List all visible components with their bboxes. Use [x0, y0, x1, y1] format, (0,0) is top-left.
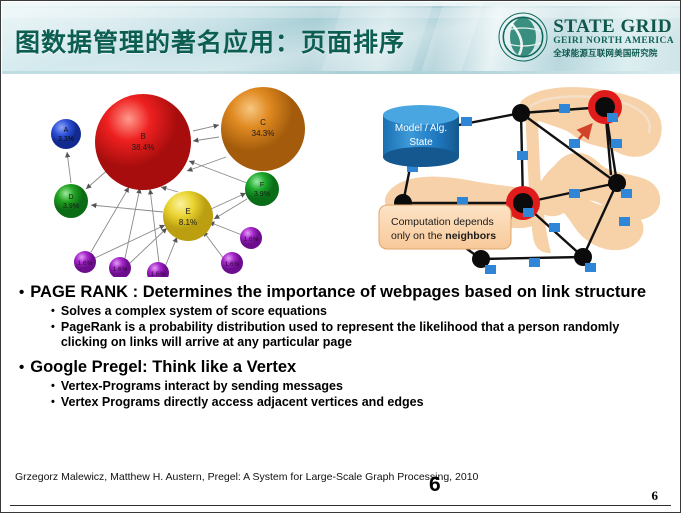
header-bottom-rule: [2, 71, 681, 74]
bullet-level2-adjacent-vertices: • Vertex Programs directly access adjace…: [15, 395, 665, 410]
footer-divider: [10, 505, 671, 506]
slide: 图数据管理的著名应用：页面排序 STATE GRID GEIRI NORTH A…: [0, 0, 681, 513]
bullet-text: PAGE RANK : Determines the importance of…: [30, 283, 665, 302]
svg-text:C: C: [260, 118, 266, 127]
page-number: 6: [652, 488, 659, 504]
bullet-list: • PAGE RANK : Determines the importance …: [15, 283, 665, 411]
svg-text:34.3%: 34.3%: [252, 129, 275, 138]
svg-text:8.1%: 8.1%: [179, 218, 197, 227]
bullet-dot-icon: •: [19, 283, 24, 302]
model-state-cylinder: Model / Alg. State: [383, 105, 459, 167]
cylinder-label-line2: State: [409, 137, 433, 148]
svg-text:D: D: [68, 194, 73, 201]
state-grid-logo: STATE GRID GEIRI NORTH AMERICA 全球能源互联网美国…: [497, 7, 674, 67]
svg-text:1.6%: 1.6%: [244, 236, 259, 243]
bullet-level2-score-equations: • Solves a complex system of score equat…: [15, 304, 665, 319]
svg-text:1.6%: 1.6%: [113, 266, 128, 273]
bullet-text: Google Pregel: Think like a Vertex: [30, 358, 665, 377]
bullet-dot-icon: •: [51, 304, 55, 319]
header-top-highlight: [2, 2, 681, 6]
bullet-text: Solves a complex system of score equatio…: [61, 304, 665, 319]
pagerank-diagram: C 34.3% B 38.4% A 3.3% D 3.9% E 8.1%: [23, 79, 341, 277]
bullet-level1-pregel: • Google Pregel: Think like a Vertex: [15, 358, 665, 377]
citation-text: Grzegorz Malewicz, Matthew H. Austern, P…: [15, 471, 478, 483]
bullet-text: Vertex Programs directly access adjacent…: [61, 395, 665, 410]
logo-line-chinese: 全球能源互联网美国研究院: [553, 49, 674, 58]
svg-text:1.6%: 1.6%: [78, 260, 93, 267]
logo-line-geiri: GEIRI NORTH AMERICA: [553, 37, 674, 47]
bullet-level2-probability-distribution: • PageRank is a probability distribution…: [15, 320, 665, 350]
logo-line-state-grid: STATE GRID: [553, 17, 674, 36]
bullet-level1-pagerank: • PAGE RANK : Determines the importance …: [15, 283, 665, 302]
bullet-dot-icon: •: [19, 358, 24, 377]
svg-text:F: F: [260, 182, 264, 189]
callout-line2: only on the neighbors: [391, 230, 496, 242]
logo-wordmark: STATE GRID GEIRI NORTH AMERICA 全球能源互联网美国…: [553, 17, 674, 57]
svg-text:1.6%: 1.6%: [225, 261, 240, 268]
bullet-level2-sending-messages: • Vertex-Programs interact by sending me…: [15, 379, 665, 394]
bullet-text: Vertex-Programs interact by sending mess…: [61, 379, 665, 394]
svg-text:A: A: [64, 127, 69, 134]
svg-text:3.9%: 3.9%: [254, 191, 270, 198]
bullet-dot-icon: •: [51, 395, 55, 410]
svg-text:E: E: [185, 207, 190, 216]
bullet-text: PageRank is a probability distribution u…: [61, 320, 665, 350]
bullet-dot-icon: •: [51, 320, 55, 335]
svg-text:1.6%: 1.6%: [151, 271, 166, 277]
svg-text:B: B: [140, 132, 145, 141]
svg-text:3.9%: 3.9%: [63, 203, 79, 210]
header-stripe-3: [420, 2, 483, 74]
cylinder-label-line1: Model / Alg.: [395, 123, 447, 134]
page-title: 图数据管理的著名应用：页面排序: [15, 23, 405, 59]
pregel-neighborhood-diagram: Model / Alg. State Computation depends o…: [373, 77, 679, 277]
state-grid-globe-emblem: [497, 11, 549, 63]
callout-line1: Computation depends: [391, 216, 494, 228]
overlay-number: 6: [429, 473, 441, 497]
svg-text:38.4%: 38.4%: [132, 143, 155, 152]
svg-text:3.3%: 3.3%: [58, 136, 74, 143]
callout-box: Computation depends only on the neighbor…: [379, 205, 511, 249]
bullet-dot-icon: •: [51, 379, 55, 394]
